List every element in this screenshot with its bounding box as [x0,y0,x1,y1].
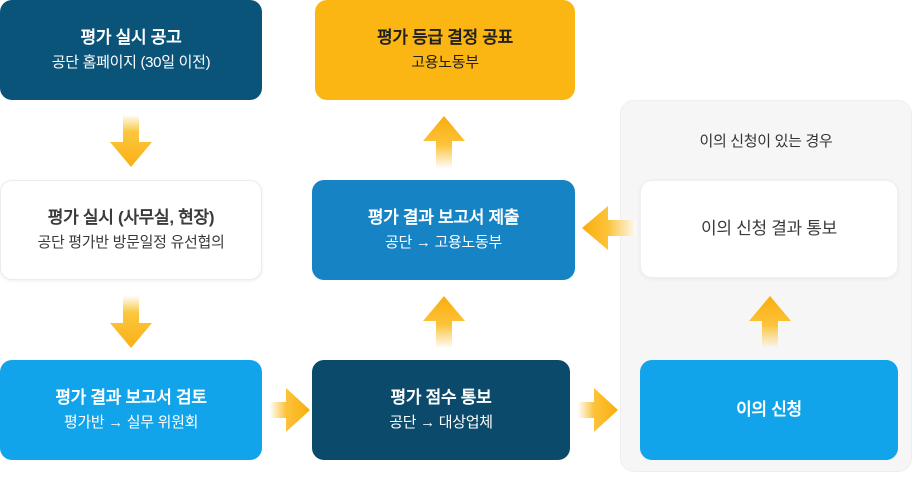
arrow-right-score-notice-to-objection [578,388,618,432]
node-report-review-title: 평가 결과 보고서 검토 [55,387,206,409]
node-score-notice-title: 평가 점수 통보 [391,387,492,409]
node-announcement-subtitle: 공단 홈페이지 (30일 이전) [52,53,211,73]
arrow-up-score-notice-to-report-submit [423,296,465,348]
node-report-submit-subtitle: 공단 → 고용노동부 [385,233,502,253]
node-evaluation-subtitle: 공단 평가반 방문일정 유선협의 [37,233,224,253]
arrow-left-objection-result-to-report-submit [582,206,636,250]
node-objection[interactable]: 이의 신청 [640,360,898,460]
node-report-submit-title: 평가 결과 보고서 제출 [368,207,519,229]
arrow-right-report-review-to-score-notice [270,388,310,432]
node-announcement-title: 평가 실시 공고 [81,27,182,49]
arrow-up-objection-to-objection-result [749,296,791,348]
process-flow-diagram: 이의 신청이 있는 경우 평가 실시 공고 공단 홈페이지 (30일 이전) 평… [0,0,915,479]
node-score-notice-subtitle: 공단 → 대상업체 [389,413,492,433]
node-evaluation[interactable]: 평가 실시 (사무실, 현장) 공단 평가반 방문일정 유선협의 [0,180,262,280]
node-grade-publication-title: 평가 등급 결정 공표 [377,27,513,49]
node-evaluation-title: 평가 실시 (사무실, 현장) [48,207,214,229]
node-report-submit[interactable]: 평가 결과 보고서 제출 공단 → 고용노동부 [312,180,575,280]
node-report-review[interactable]: 평가 결과 보고서 검토 평가반 → 실무 위원회 [0,360,262,460]
node-objection-title: 이의 신청 [736,399,802,421]
objection-panel-label: 이의 신청이 있는 경우 [620,130,912,151]
node-report-review-subtitle: 평가반 → 실무 위원회 [64,413,198,433]
node-score-notice[interactable]: 평가 점수 통보 공단 → 대상업체 [312,360,570,460]
node-grade-publication[interactable]: 평가 등급 결정 공표 고용노동부 [315,0,575,100]
arrow-down-evaluation-to-report-review [110,296,152,348]
arrow-up-report-submit-to-grade-publication [423,116,465,168]
node-grade-publication-subtitle: 고용노동부 [411,53,479,73]
node-announcement[interactable]: 평가 실시 공고 공단 홈페이지 (30일 이전) [0,0,262,100]
node-objection-result[interactable]: 이의 신청 결과 통보 [640,180,898,278]
node-objection-result-title: 이의 신청 결과 통보 [701,218,837,240]
arrow-down-announcement-to-evaluation [110,115,152,167]
